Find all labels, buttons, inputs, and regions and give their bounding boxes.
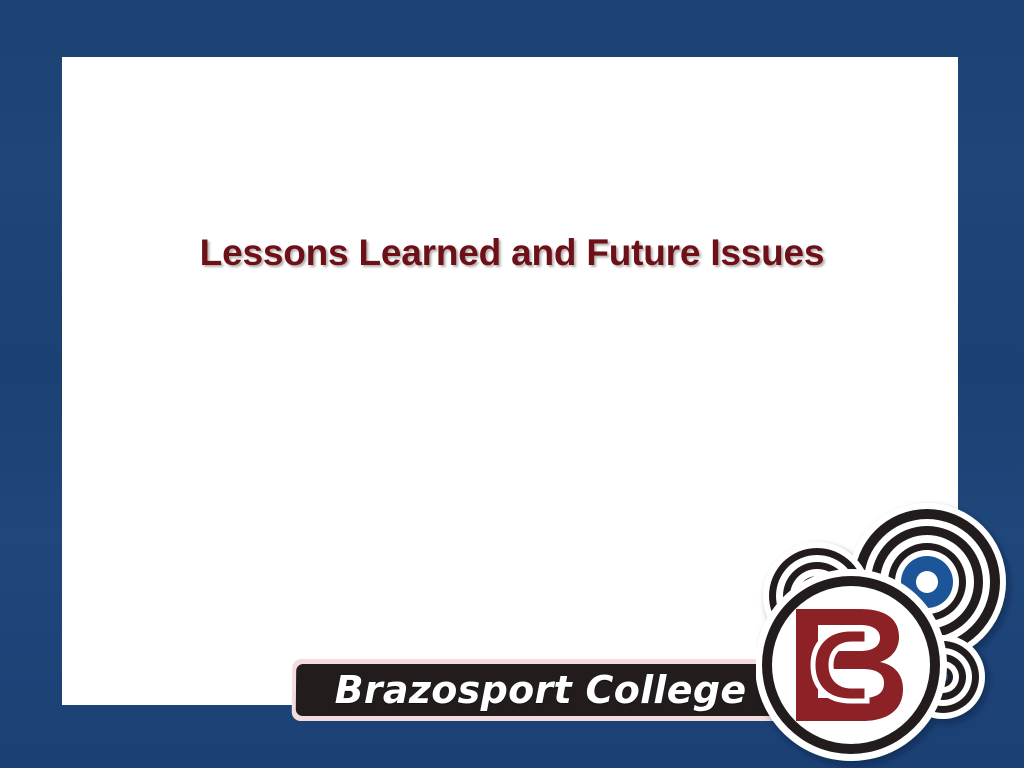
presentation-slide: Lessons Learned and Future Issues Brazos…	[0, 0, 1024, 768]
bc-monogram	[796, 609, 903, 721]
logo-circles-mark	[756, 497, 1024, 768]
logo-banner: Brazosport College	[292, 659, 797, 721]
brazosport-college-logo: Brazosport College	[286, 497, 1024, 768]
page-title: Lessons Learned and Future Issues	[0, 232, 1024, 274]
logo-monogram-circle	[756, 569, 947, 761]
logo-banner-text: Brazosport College	[292, 659, 789, 721]
